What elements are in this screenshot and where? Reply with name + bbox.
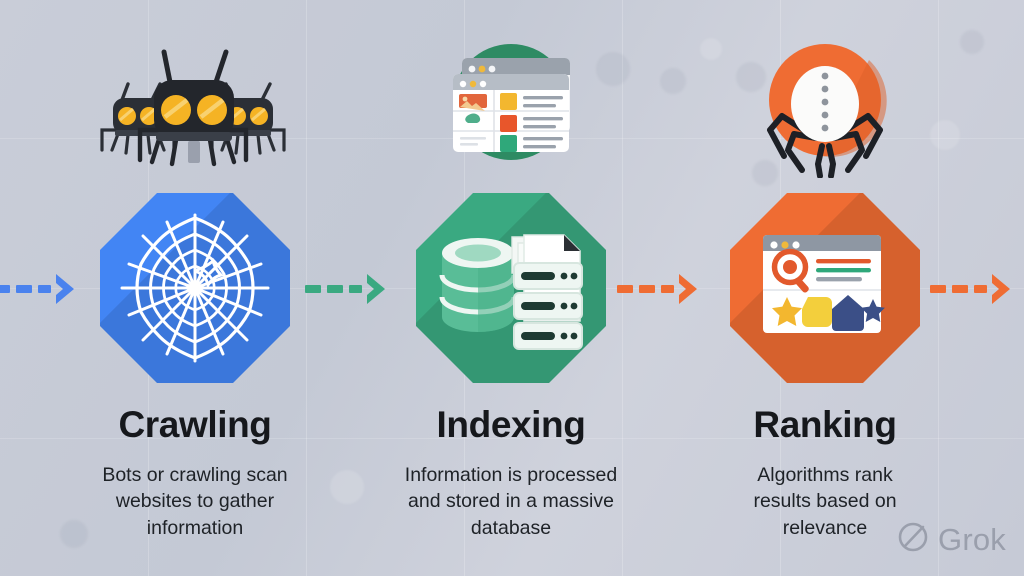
infographic-canvas: Crawling Bots or crawling scan websites … — [0, 0, 1024, 576]
desc-line: information — [36, 515, 354, 541]
description-indexing: Information is processed and stored in a… — [352, 462, 670, 541]
search-results-rating-icon — [730, 193, 920, 383]
database-server-icon — [416, 193, 606, 383]
description-crawling: Bots or crawling scan websites to gather… — [36, 462, 354, 541]
grok-watermark: Grok — [897, 521, 1006, 558]
desc-line: Algorithms rank — [666, 462, 984, 488]
spider-web-icon — [100, 193, 290, 383]
step-ranking: Ranking Algorithms rank results based on… — [666, 0, 984, 576]
page-title-crawling: Crawling — [36, 406, 354, 443]
desc-line: websites to gather — [36, 488, 354, 514]
desc-line: database — [352, 515, 670, 541]
browser-index-list-icon — [352, 38, 670, 178]
badge-indexing — [416, 193, 606, 383]
crawler-bots-icon — [36, 38, 354, 178]
grok-logo-icon — [897, 521, 929, 558]
badge-crawling — [100, 193, 290, 383]
desc-line: Information is processed — [352, 462, 670, 488]
step-indexing: Indexing Information is processed and st… — [352, 0, 670, 576]
white-spider-icon — [666, 38, 984, 178]
page-title-ranking: Ranking — [666, 406, 984, 443]
grok-watermark-label: Grok — [938, 522, 1006, 558]
desc-line: Bots or crawling scan — [36, 462, 354, 488]
page-title-indexing: Indexing — [352, 406, 670, 443]
desc-line: results based on — [666, 488, 984, 514]
badge-ranking — [730, 193, 920, 383]
desc-line: and stored in a massive — [352, 488, 670, 514]
step-crawling: Crawling Bots or crawling scan websites … — [36, 0, 354, 576]
